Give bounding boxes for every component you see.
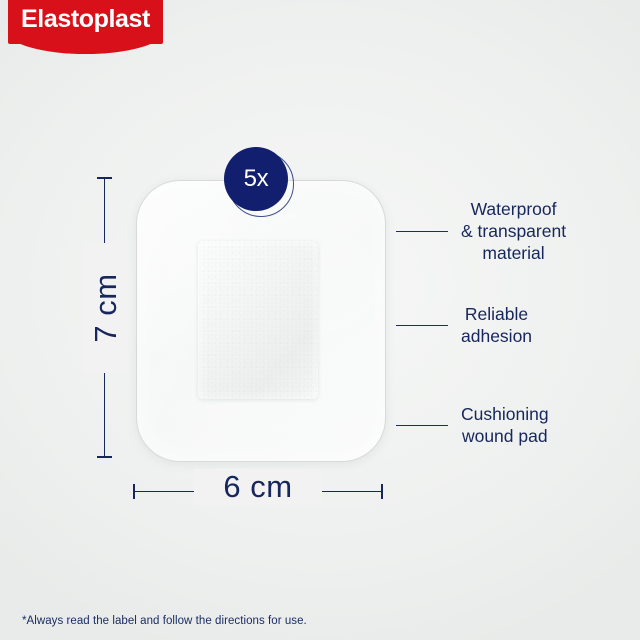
product-feature-image: Elastoplast 5x Waterproof & transparent … (0, 0, 640, 640)
logo-swoosh-red (8, 32, 163, 54)
callout-waterproof-line3: material (461, 242, 566, 264)
badge-label: 5x (224, 147, 288, 211)
wound-pad (198, 241, 318, 399)
brand-name: Elastoplast (8, 5, 163, 34)
callout-leader-line (396, 325, 448, 326)
plaster-body (136, 180, 386, 462)
callout-adhesion: Reliable adhesion (396, 303, 532, 347)
dimension-height-label: 7 cm (84, 243, 128, 373)
callout-cushioning: Cushioning wound pad (396, 403, 549, 447)
callout-adhesion-line2: adhesion (461, 325, 532, 347)
brand-logo: Elastoplast (8, 0, 163, 58)
callout-waterproof-line2: & transparent (461, 220, 566, 242)
callout-adhesion-line1: Reliable (461, 303, 532, 325)
footnote-disclaimer: *Always read the label and follow the di… (22, 615, 307, 627)
callout-leader-line (396, 425, 448, 426)
callout-waterproof-text: Waterproof & transparent material (461, 198, 566, 264)
callout-adhesion-text: Reliable adhesion (461, 303, 532, 347)
dimension-width-cap-left (133, 484, 135, 499)
callout-cushioning-line2: wound pad (461, 425, 549, 447)
dimension-height-cap-top (97, 177, 112, 179)
callout-cushioning-line1: Cushioning (461, 403, 549, 425)
wound-pad-texture (198, 241, 318, 399)
dimension-width-label: 6 cm (194, 469, 322, 505)
quantity-badge: 5x (224, 147, 292, 215)
dimension-height-cap-bottom (97, 456, 112, 458)
dimension-width: 6 cm (132, 482, 384, 501)
callout-cushioning-text: Cushioning wound pad (461, 403, 549, 447)
dimension-width-cap-right (381, 484, 383, 499)
callout-waterproof: Waterproof & transparent material (396, 198, 566, 264)
callout-waterproof-line1: Waterproof (461, 198, 566, 220)
dimension-height: 7 cm (96, 176, 113, 460)
callout-leader-line (396, 231, 448, 232)
